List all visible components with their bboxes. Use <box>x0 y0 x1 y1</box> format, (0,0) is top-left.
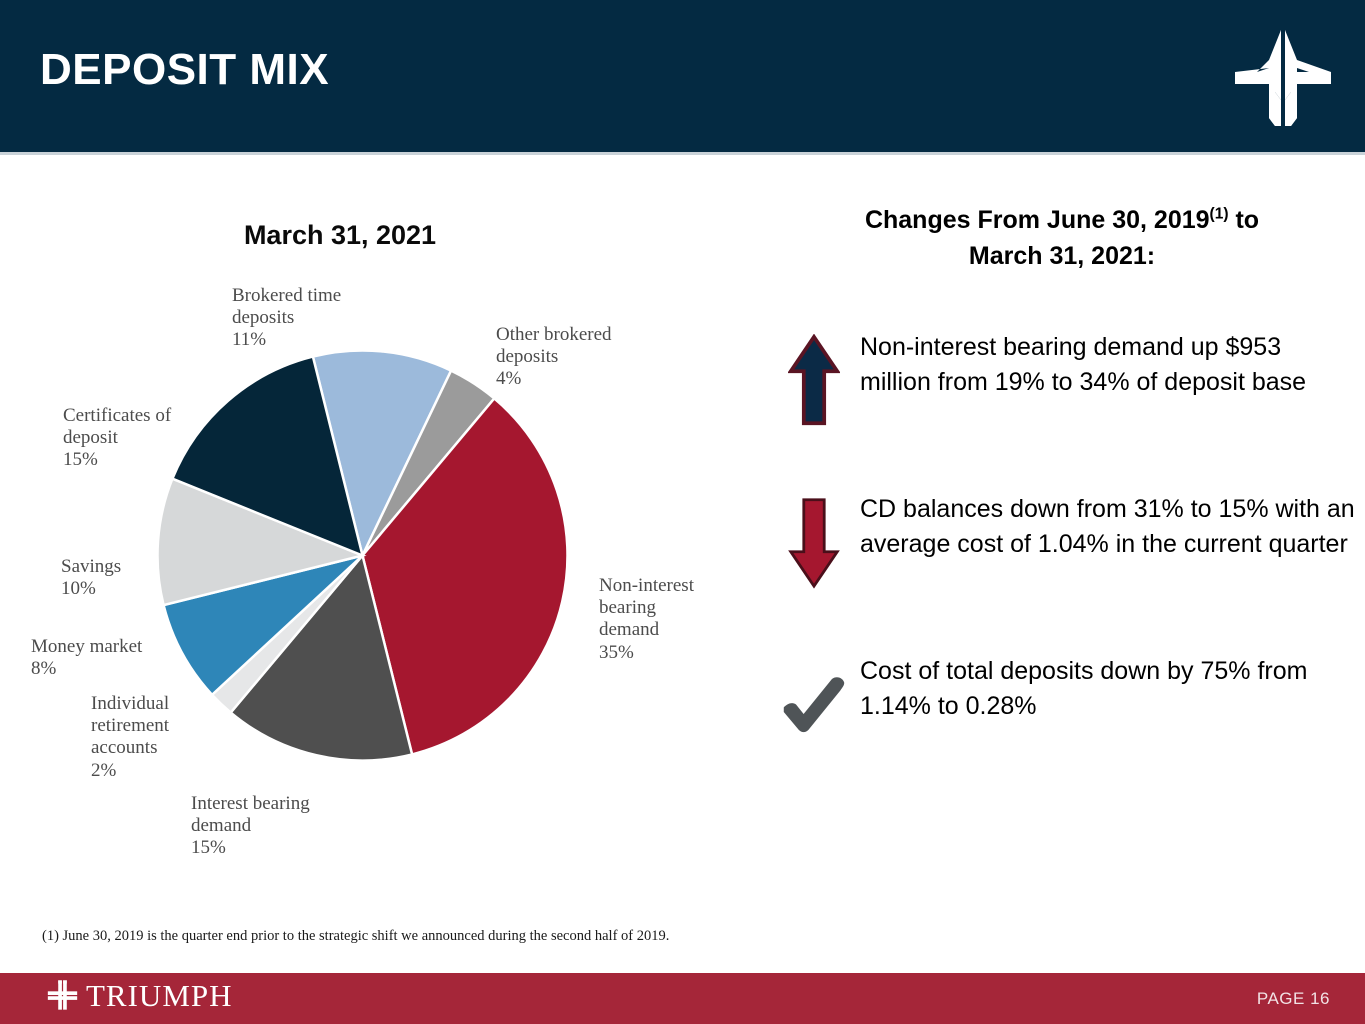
footnote-marker: (1) <box>1210 206 1229 223</box>
down-arrow-icon <box>768 492 860 589</box>
changes-heading-line1-suffix: to <box>1229 206 1260 234</box>
pie-label-brokered-time-deposits: Brokered time deposits 11% <box>232 285 407 352</box>
page-number: PAGE 16 <box>1257 989 1330 1009</box>
changes-heading-line1-prefix: Changes From June 30, 2019 <box>865 206 1210 234</box>
pie-label-interest-bearing-demand: Interest bearing demand 15% <box>191 793 381 860</box>
pie-label-non-interest-bearing-demand: Non-interest bearing demand 35% <box>599 575 749 664</box>
change-bullet-text: Cost of total deposits down by 75% from … <box>860 654 1358 725</box>
change-bullet-cost-of-deposits: Cost of total deposits down by 75% from … <box>768 654 1358 733</box>
pie-chart-title: March 31, 2021 <box>120 220 560 251</box>
pie-label-certificates-of-deposit: Certificates of deposit 15% <box>63 405 228 472</box>
pie-chart-panel: March 31, 2021 Brokered time deposits 11… <box>0 152 760 912</box>
changes-panel: Changes From June 30, 2019(1) to March 3… <box>762 152 1365 912</box>
pie-label-other-brokered-deposits: Other brokered deposits 4% <box>496 324 676 391</box>
checkmark-icon <box>768 654 860 733</box>
pie-label-savings: Savings 10% <box>61 556 211 600</box>
triumph-cross-icon <box>46 979 79 1011</box>
footnote-text: (1) June 30, 2019 is the quarter end pri… <box>42 928 669 945</box>
change-bullet-cd-balances: CD balances down from 31% to 15% with an… <box>768 492 1358 589</box>
footer-brand: TRIUMPH <box>46 979 233 1011</box>
up-arrow-icon <box>768 330 860 427</box>
pie-label-money-market: Money market 8% <box>31 636 201 680</box>
changes-heading: Changes From June 30, 2019(1) to March 3… <box>772 202 1352 275</box>
change-bullet-text: CD balances down from 31% to 15% with an… <box>860 492 1358 563</box>
page-title: DEPOSIT MIX <box>40 48 329 92</box>
change-bullet-non-interest-bearing: Non-interest bearing demand up $953 mill… <box>768 330 1358 427</box>
footer-wordmark: TRIUMPH <box>86 980 233 1011</box>
change-bullet-text: Non-interest bearing demand up $953 mill… <box>860 330 1358 401</box>
triumph-cross-icon <box>1229 26 1337 130</box>
changes-heading-line2: March 31, 2021: <box>969 242 1155 270</box>
pie-label-individual-retirement-accounts: Individual retirement accounts 2% <box>91 693 231 782</box>
